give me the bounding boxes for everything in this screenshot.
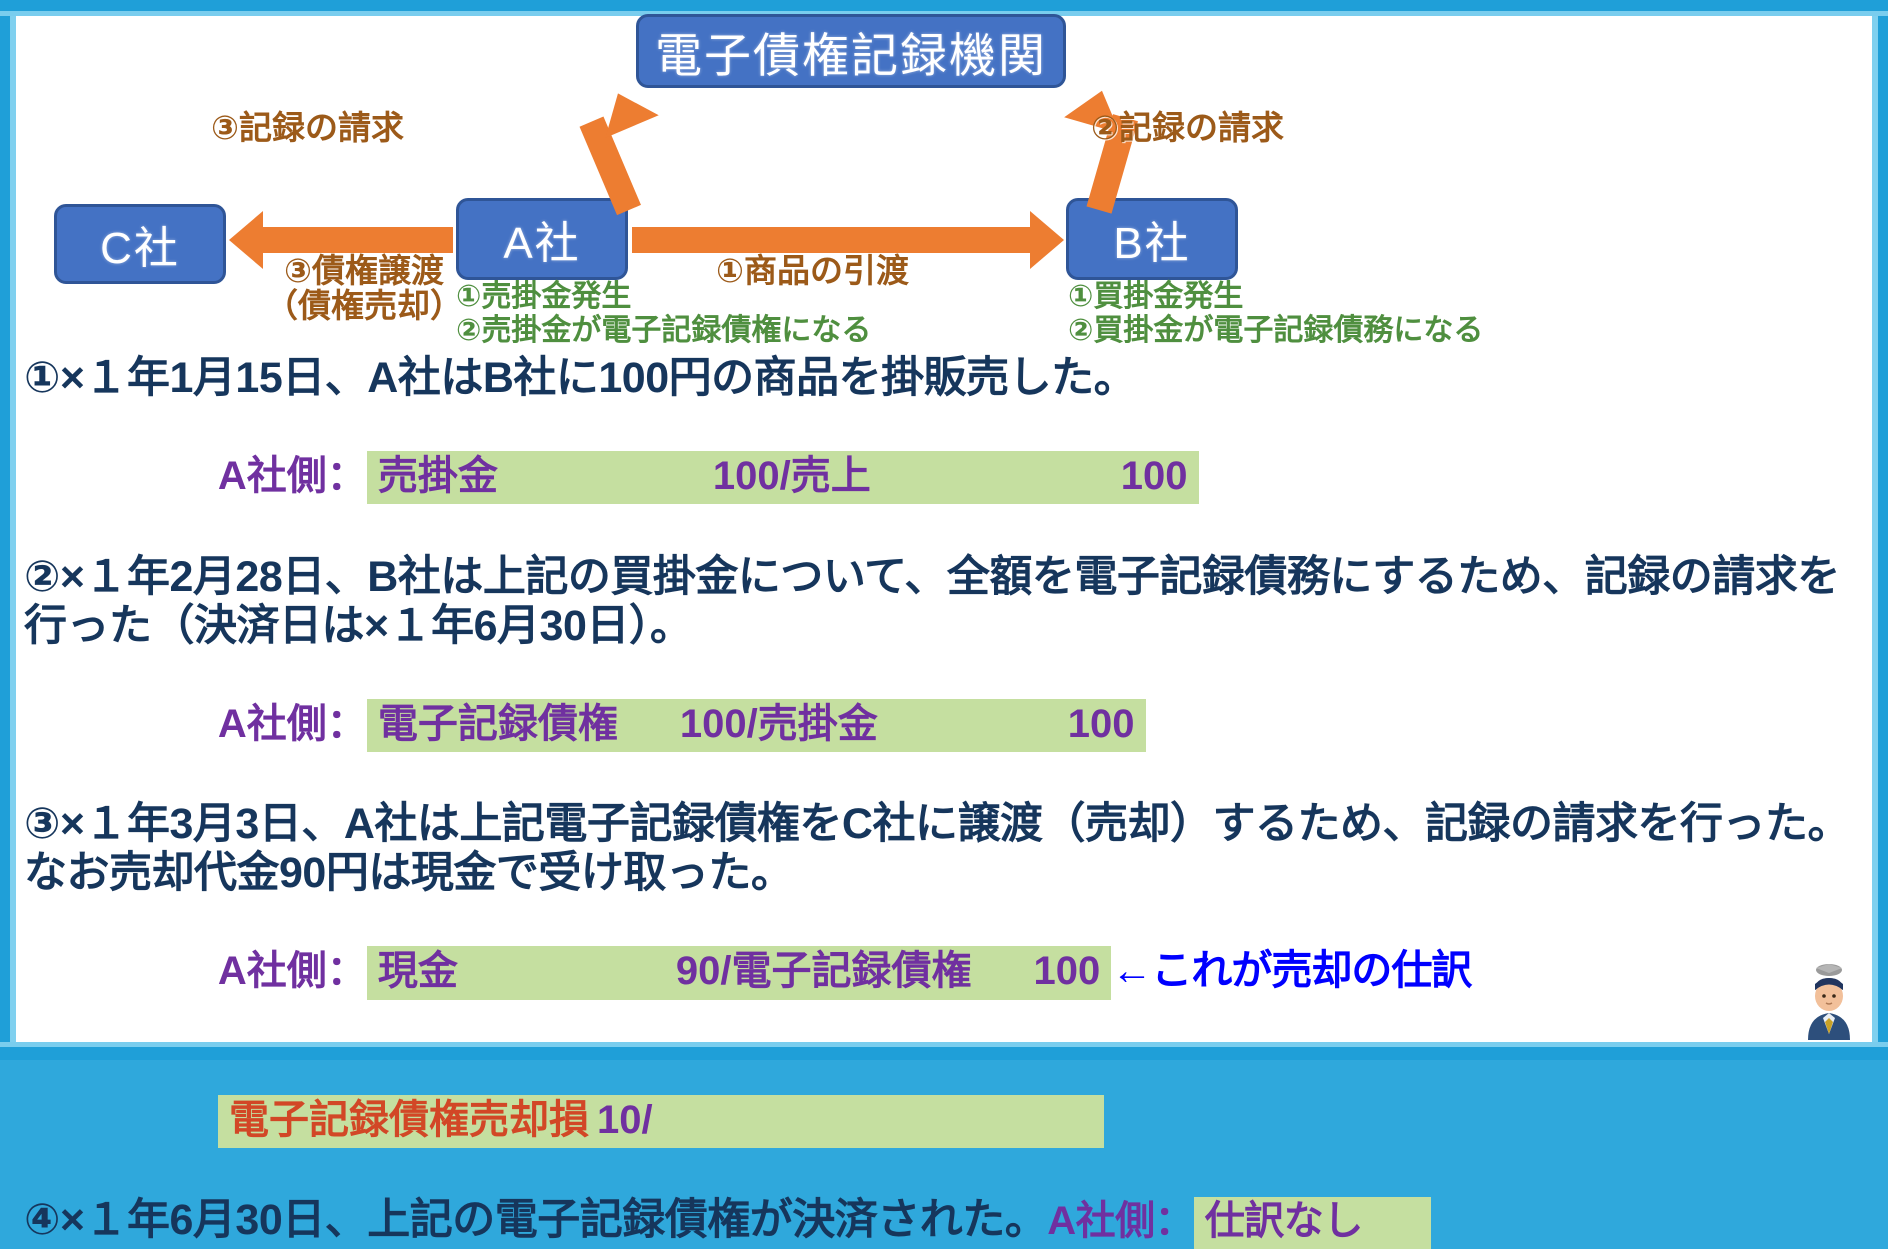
slash: / bbox=[720, 949, 731, 993]
label-receivable-transfer: ③債権譲渡 （債権売却） bbox=[259, 254, 469, 323]
sale-journal-annotation: ←これが売却の仕訳 bbox=[1111, 947, 1471, 993]
credit-amount: 100 bbox=[1121, 454, 1188, 498]
journal-value: 仕訳なし bbox=[1205, 1199, 1363, 1243]
debit-amount: 100 bbox=[680, 702, 747, 746]
slash: / bbox=[642, 1098, 653, 1142]
journal-entry: 電子記録債権100/売掛金100 bbox=[367, 699, 1146, 752]
presenter-avatar bbox=[1798, 962, 1860, 1040]
top-border bbox=[0, 0, 1888, 11]
slide-frame: 電子債権記録機関 C社 A社 B社 bbox=[0, 0, 1888, 1060]
node-company-b: B社 bbox=[1066, 198, 1238, 280]
transaction-2-journal-row: A社側： 電子記録債権100/売掛金100 bbox=[24, 652, 1874, 800]
debit-account: 売掛金 bbox=[378, 454, 498, 498]
transaction-4-row: ④×１年6月30日、上記の電子記録債権が決済された。A社側： 仕訳なし bbox=[24, 1196, 1874, 1249]
journal-entry: 現金90/電子記録債権100 bbox=[367, 946, 1112, 999]
credit-amount: 100 bbox=[1034, 949, 1101, 993]
debit-account: 電子記録債権売却損 bbox=[229, 1098, 589, 1142]
debit-account: 現金 bbox=[378, 949, 458, 993]
slash: / bbox=[747, 702, 758, 746]
journal-entry: 仕訳なし bbox=[1194, 1197, 1431, 1249]
journal-label: A社側： bbox=[218, 949, 367, 993]
journal-entry: 電子記録債権売却損10/ bbox=[218, 1095, 1104, 1148]
debit-amount: 90 bbox=[676, 949, 721, 993]
node-electronic-debt-registry: 電子債権記録機関 bbox=[636, 14, 1066, 88]
arrow-a-to-registry bbox=[576, 94, 696, 204]
transaction-3-journal-row-2: 電子記録債権売却損10/ bbox=[24, 1048, 1874, 1196]
transaction-3-text: ③×１年3月3日、A社は上記電子記録債権をC社に譲渡（売却）するため、記録の請求… bbox=[24, 800, 1872, 898]
node-company-a: A社 bbox=[456, 198, 628, 280]
transaction-1-journal-row: A社側： 売掛金100/売上100 bbox=[24, 404, 1874, 552]
transaction-4-text: ④×１年6月30日、上記の電子記録債権が決済された。 bbox=[24, 1196, 1047, 1244]
credit-account: 売上 bbox=[791, 454, 871, 498]
credit-account: 電子記録債権 bbox=[732, 949, 972, 993]
slide-canvas: 電子債権記録機関 C社 A社 B社 bbox=[16, 16, 1872, 1042]
journal-label: A社側： bbox=[218, 702, 367, 746]
transactions-list: ①×１年1月15日、A社はB社に100円の商品を掛販売した。 A社側： 売掛金1… bbox=[24, 354, 1874, 1249]
label-record-request-3: ③記録の請求 bbox=[211, 111, 404, 146]
credit-amount: 100 bbox=[1068, 702, 1135, 746]
debit-amount: 100 bbox=[713, 454, 780, 498]
transaction-2-text: ②×１年2月28日、B社は上記の買掛金について、全額を電子記録債務にするため、記… bbox=[24, 553, 1864, 651]
debit-account: 電子記録債権 bbox=[378, 702, 618, 746]
journal-label: A社側： bbox=[218, 454, 367, 498]
slash: / bbox=[780, 454, 791, 498]
journal-entry: 売掛金100/売上100 bbox=[367, 451, 1199, 504]
transaction-3-journal-row-1: A社側： 現金90/電子記録債権100 ←これが売却の仕訳 bbox=[24, 899, 1874, 1047]
notes-company-a: ①売掛金発生 ②売掛金が電子記録債権になる bbox=[456, 280, 871, 347]
debit-amount: 10 bbox=[597, 1098, 642, 1142]
journal-label: A社側： bbox=[1047, 1199, 1194, 1243]
transaction-1-text: ①×１年1月15日、A社はB社に100円の商品を掛販売した。 bbox=[24, 354, 1874, 403]
notes-company-b: ①買掛金発生 ②買掛金が電子記録債務になる bbox=[1068, 280, 1483, 347]
label-record-request-2: ②記録の請求 bbox=[1091, 111, 1284, 146]
credit-account: 売掛金 bbox=[758, 702, 878, 746]
node-company-c: C社 bbox=[54, 204, 226, 284]
